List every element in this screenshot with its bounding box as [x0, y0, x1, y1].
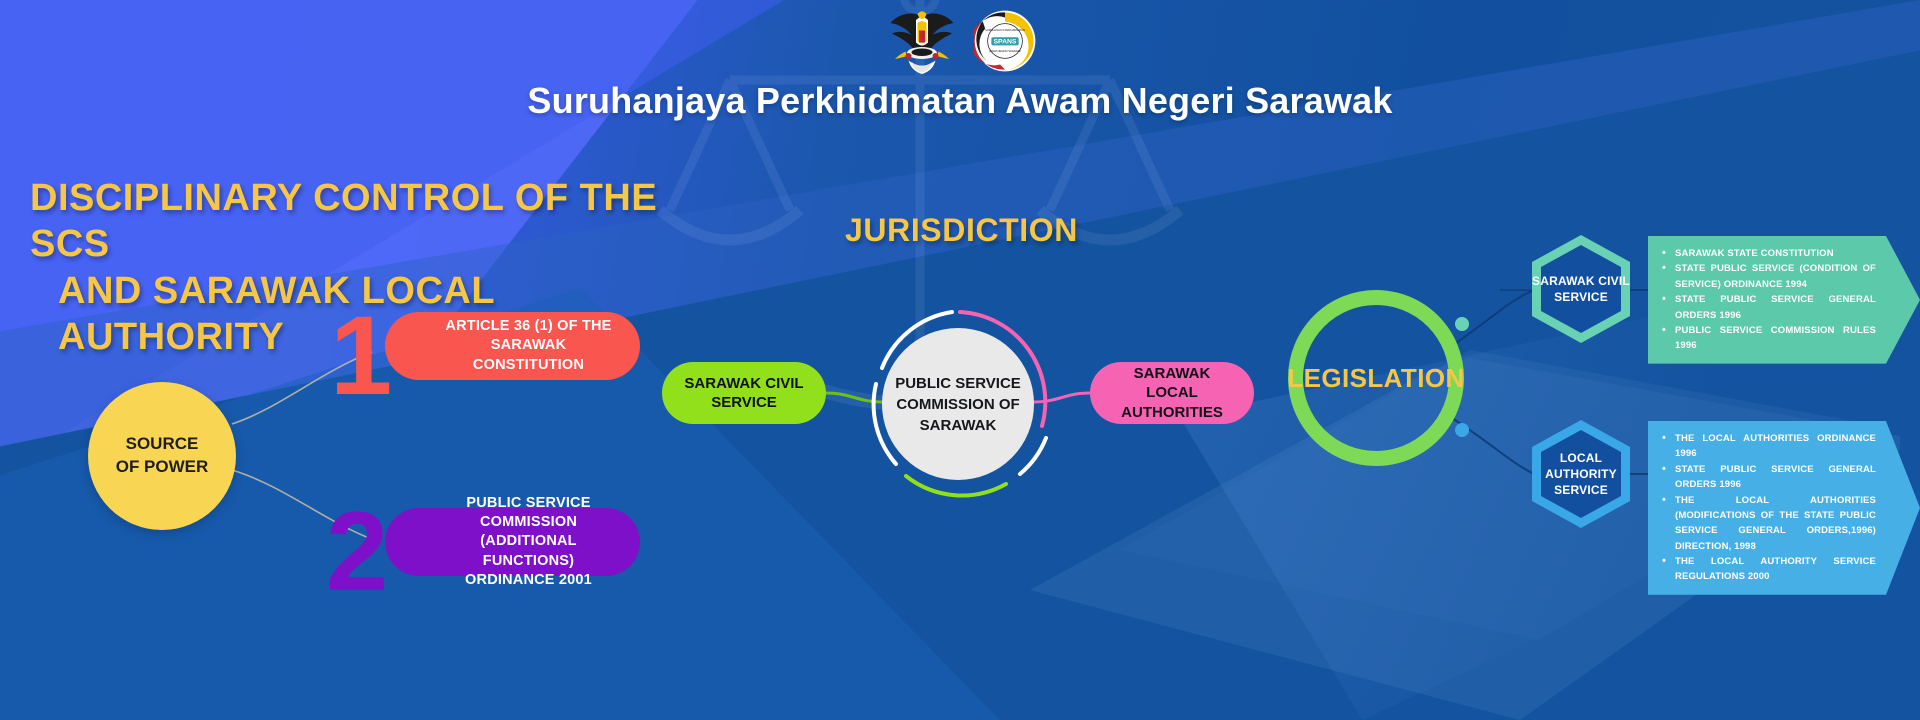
crest-row: SPANS SURUHANJAYA PERKHIDMATAN AWAM NEGE…: [0, 0, 1920, 76]
jurisdiction-hub-node: PUBLIC SERVICE COMMISSION OF SARAWAK: [882, 328, 1034, 480]
list-item: THE LOCAL AUTHORITY SERVICE REGULATIONS …: [1662, 554, 1876, 585]
legislation-branch-2-hexagon: LOCAL AUTHORITY SERVICE: [1532, 420, 1630, 528]
legislation-branch-1-list: SARAWAK STATE CONSTITUTION STATE PUBLIC …: [1662, 246, 1876, 354]
organization-title: Suruhanjaya Perkhidmatan Awam Negeri Sar…: [0, 80, 1920, 122]
infographic-canvas: SPANS SURUHANJAYA PERKHIDMATAN AWAM NEGE…: [0, 0, 1920, 720]
source-of-power-label-line2: OF POWER: [116, 456, 209, 479]
jurisdiction-node-sarawak-civil-service: SARAWAK CIVIL SERVICE: [662, 362, 826, 424]
jurisdiction-node-sarawak-local-authorities: SARAWAK LOCAL AUTHORITIES: [1090, 362, 1254, 424]
list-item: THE LOCAL AUTHORITIES ORDINANCE 1996: [1662, 431, 1876, 462]
jurisdiction-heading: JURISDICTION: [845, 212, 1078, 249]
list-item: THE LOCAL AUTHORITIES (MODIFICATIONS OF …: [1662, 493, 1876, 555]
spans-logo-icon: SPANS SURUHANJAYA PERKHIDMATAN AWAM NEGE…: [974, 10, 1036, 72]
list-item: STATE PUBLIC SERVICE GENERAL ORDERS 1996: [1662, 292, 1876, 323]
legislation-label: LEGISLATION: [1287, 363, 1464, 394]
jurisdiction-node-scs-label: SARAWAK CIVIL SERVICE: [678, 374, 810, 413]
source-of-power-node: SOURCE OF POWER: [88, 382, 236, 530]
jurisdiction-node-sla-label: SARAWAK LOCAL AUTHORITIES: [1106, 364, 1238, 423]
spans-logo-text: SPANS: [994, 38, 1017, 45]
list-item: PUBLIC SERVICE COMMISSION RULES 1996: [1662, 323, 1876, 354]
jurisdiction-hub-label: PUBLIC SERVICE COMMISSION OF SARAWAK: [882, 373, 1034, 436]
svg-text:AWAM NEGERI SARAWAK: AWAM NEGERI SARAWAK: [989, 49, 1021, 53]
legislation-branch-1-label: SARAWAK CIVIL SERVICE: [1532, 273, 1630, 305]
legislation-branch-1-banner: SARAWAK STATE CONSTITUTION STATE PUBLIC …: [1648, 236, 1920, 364]
svg-text:SURUHANJAYA PERKHIDMATAN: SURUHANJAYA PERKHIDMATAN: [985, 28, 1025, 32]
legislation-branch-2-banner: THE LOCAL AUTHORITIES ORDINANCE 1996 STA…: [1648, 421, 1920, 595]
source-item-2-number: 2: [326, 496, 388, 608]
legislation-branch-1-hexagon: SARAWAK CIVIL SERVICE: [1532, 235, 1630, 343]
legislation-label-wrap: LEGISLATION: [1288, 290, 1464, 466]
list-item: SARAWAK STATE CONSTITUTION: [1662, 246, 1876, 261]
sarawak-state-crest-icon: [884, 5, 960, 77]
legislation-branch-2-label: LOCAL AUTHORITY SERVICE: [1532, 450, 1630, 499]
page-title-line1: DISCIPLINARY CONTROL OF THE SCS: [30, 177, 657, 265]
source-item-2-pill: PUBLIC SERVICE COMMISSION (ADDITIONAL FU…: [385, 508, 640, 576]
source-of-power-label-line1: SOURCE: [126, 433, 199, 456]
source-item-1-text: ARTICLE 36 (1) OF THE SARAWAK CONSTITUTI…: [385, 317, 640, 374]
legislation-branch-2-list: THE LOCAL AUTHORITIES ORDINANCE 1996 STA…: [1662, 431, 1876, 585]
source-item-1-number: 1: [330, 300, 392, 412]
source-item-1-pill: ARTICLE 36 (1) OF THE SARAWAK CONSTITUTI…: [385, 312, 640, 380]
source-item-2-text: PUBLIC SERVICE COMMISSION (ADDITIONAL FU…: [385, 494, 640, 590]
page-header: SPANS SURUHANJAYA PERKHIDMATAN AWAM NEGE…: [0, 0, 1920, 122]
list-item: STATE PUBLIC SERVICE GENERAL ORDERS 1996: [1662, 462, 1876, 493]
list-item: STATE PUBLIC SERVICE (CONDITION OF SERVI…: [1662, 261, 1876, 292]
